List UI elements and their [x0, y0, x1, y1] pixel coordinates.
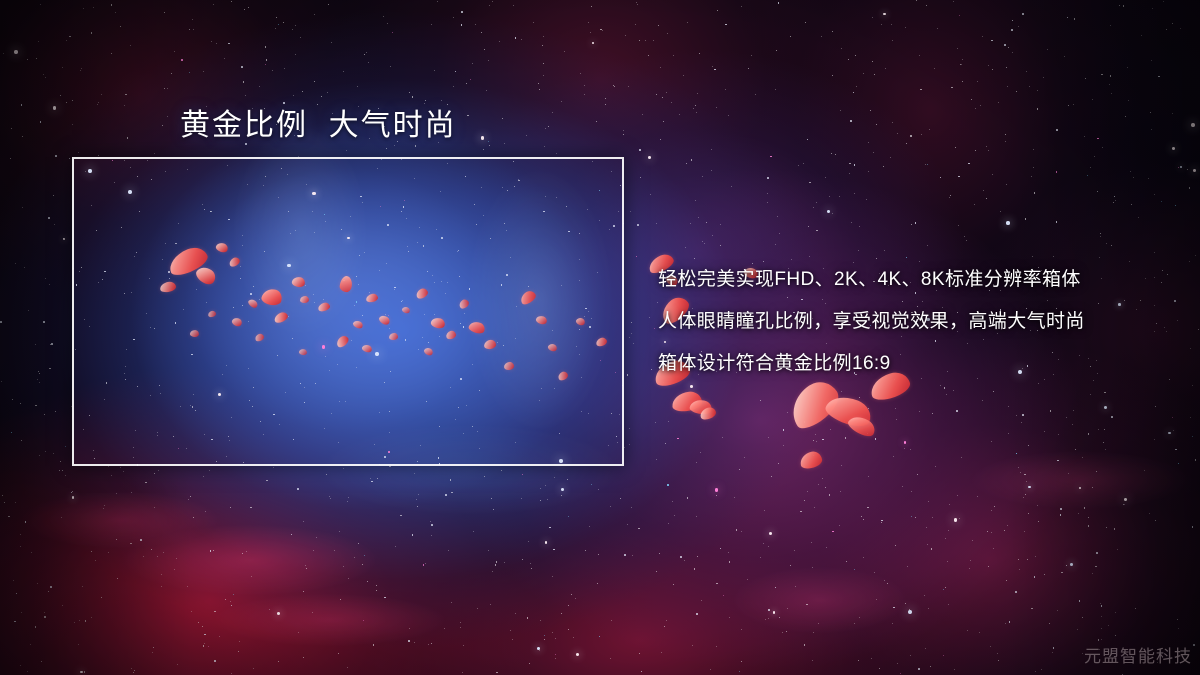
- petal: [535, 315, 548, 326]
- petal: [247, 298, 259, 310]
- petal: [415, 287, 430, 301]
- petal: [260, 287, 283, 308]
- petal: [504, 361, 515, 370]
- petal: [671, 390, 703, 412]
- petal: [298, 348, 307, 356]
- petal: [317, 301, 331, 312]
- petal: [423, 346, 434, 357]
- page-title: 黄金比例 大气时尚: [180, 100, 457, 144]
- petal: [483, 339, 496, 350]
- petal: [846, 412, 878, 440]
- body-line-3: 箱体设计符合黄金比例16:9: [658, 343, 1178, 385]
- petal: [689, 398, 713, 416]
- petal: [547, 342, 558, 352]
- petal: [228, 256, 242, 268]
- petal: [430, 316, 446, 329]
- petal: [165, 243, 210, 278]
- petal: [207, 310, 216, 318]
- petal: [194, 264, 219, 288]
- petal: [468, 320, 487, 336]
- slide-canvas: 黄金比例 大气时尚 轻松完美实现FHD、2K、4K、8K标准分辨率箱体 人体眼睛…: [0, 0, 1200, 675]
- petal: [595, 336, 608, 347]
- petal: [365, 293, 378, 303]
- photo-frame: [72, 157, 624, 466]
- petal: [215, 241, 229, 254]
- body-copy: 轻松完美实现FHD、2K、4K、8K标准分辨率箱体 人体眼睛瞳孔比例，享受视觉效…: [658, 259, 1178, 385]
- body-line-1: 轻松完美实现FHD、2K、4K、8K标准分辨率箱体: [658, 259, 1178, 301]
- watermark: 元盟智能科技: [1084, 642, 1192, 667]
- petal: [190, 329, 200, 337]
- photo-starfield: [72, 157, 624, 466]
- photo-nebula-background: [72, 157, 624, 466]
- petal: [518, 289, 537, 307]
- petal: [361, 344, 373, 354]
- petal: [575, 317, 586, 327]
- body-line-2: 人体眼睛瞳孔比例，享受视觉效果，高端大气时尚: [658, 301, 1178, 343]
- petal: [352, 319, 364, 330]
- petal: [401, 306, 411, 315]
- petal: [291, 276, 306, 288]
- petal: [389, 333, 399, 341]
- petal: [799, 450, 824, 470]
- petal: [231, 316, 243, 328]
- petal: [699, 406, 718, 422]
- petal: [557, 370, 570, 382]
- petal: [458, 298, 471, 310]
- petal: [445, 330, 457, 340]
- photo-image: [72, 157, 624, 466]
- petal: [335, 334, 351, 349]
- petal: [378, 314, 392, 327]
- petal: [339, 275, 353, 293]
- petal: [273, 310, 289, 324]
- photo-nebula-filaments: [72, 157, 624, 466]
- photo-petal-field: [72, 157, 624, 466]
- petal: [823, 390, 875, 431]
- petal: [159, 281, 176, 294]
- petal: [300, 296, 309, 303]
- petal: [254, 333, 265, 343]
